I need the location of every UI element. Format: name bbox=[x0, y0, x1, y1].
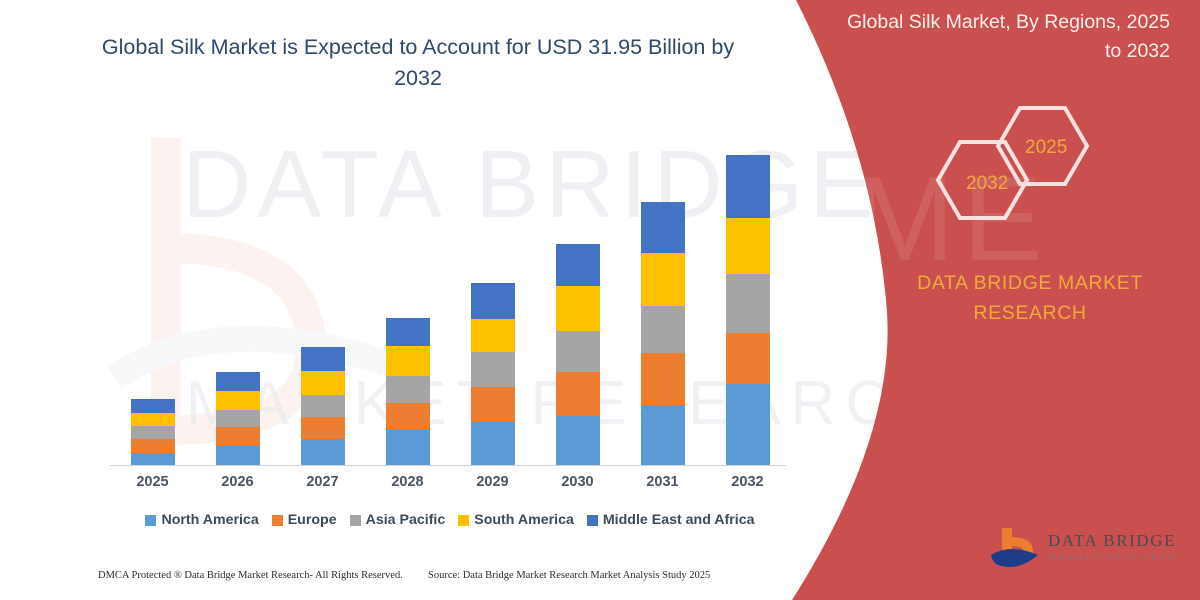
bar-segment bbox=[726, 333, 770, 384]
bar-segment bbox=[726, 274, 770, 333]
bar-segment bbox=[386, 318, 430, 347]
bar-segment bbox=[471, 319, 515, 353]
bar-segment bbox=[301, 371, 345, 395]
bar-segment bbox=[216, 391, 260, 410]
bar-2030 bbox=[556, 244, 600, 466]
bar-segment bbox=[471, 422, 515, 466]
bar-2032 bbox=[726, 155, 770, 466]
hexagon-2032-label: 2032 bbox=[966, 173, 1008, 195]
bar-segment bbox=[216, 446, 260, 466]
legend-label: Europe bbox=[288, 512, 337, 528]
x-axis-label-2025: 2025 bbox=[113, 474, 193, 490]
bar-segment bbox=[726, 384, 770, 466]
x-axis-label-2028: 2028 bbox=[368, 474, 448, 490]
bar-segment bbox=[471, 352, 515, 387]
legend-swatch-icon bbox=[272, 515, 283, 526]
x-axis-label-2032: 2032 bbox=[708, 474, 788, 490]
bar-segment bbox=[726, 218, 770, 274]
legend-label: South America bbox=[474, 512, 574, 528]
bar-segment bbox=[556, 416, 600, 466]
bar-segment bbox=[216, 427, 260, 446]
bar-segment bbox=[641, 253, 685, 306]
panel-brand-line-1: DATA BRIDGE MARKET bbox=[880, 268, 1180, 298]
bar-segment bbox=[641, 306, 685, 353]
bar-segment bbox=[131, 439, 175, 453]
dbmr-logo: DATA BRIDGE MARKET RESEARCH bbox=[988, 525, 1188, 581]
x-axis-label-2026: 2026 bbox=[198, 474, 278, 490]
bar-segment bbox=[216, 372, 260, 391]
bar-segment bbox=[301, 439, 345, 466]
legend-swatch-icon bbox=[145, 515, 156, 526]
chart-x-axis-line bbox=[110, 465, 786, 466]
bar-segment bbox=[386, 376, 430, 403]
bar-segment bbox=[301, 417, 345, 440]
bar-segment bbox=[641, 353, 685, 404]
bar-segment bbox=[386, 346, 430, 376]
chart-legend: North AmericaEuropeAsia PacificSouth Ame… bbox=[110, 512, 790, 528]
legend-item: Europe bbox=[272, 512, 337, 528]
panel-title: Global Silk Market, By Regions, 2025 to … bbox=[840, 8, 1170, 66]
bar-segment bbox=[556, 244, 600, 286]
x-axis-label-2031: 2031 bbox=[623, 474, 703, 490]
chart-x-axis-labels: 20252026202720282029203020312032 bbox=[110, 474, 790, 500]
page-title: Global Silk Market is Expected to Accoun… bbox=[98, 32, 738, 94]
bar-segment bbox=[641, 202, 685, 253]
bar-2027 bbox=[301, 347, 345, 466]
hexagon-2025-label: 2025 bbox=[1025, 137, 1067, 159]
bar-segment bbox=[641, 405, 685, 466]
hexagon-badges bbox=[925, 100, 1125, 230]
bar-2025 bbox=[131, 399, 175, 466]
bar-segment bbox=[301, 347, 345, 371]
x-axis-label-2029: 2029 bbox=[453, 474, 533, 490]
legend-item: North America bbox=[145, 512, 258, 528]
legend-label: Middle East and Africa bbox=[603, 512, 755, 528]
bar-segment bbox=[556, 372, 600, 415]
bar-segment bbox=[386, 430, 430, 466]
infographic-canvas: DATA BRIDGE MARKET RESEARCH RME Global S… bbox=[0, 0, 1200, 600]
dbmr-logo-text-sub: MARKET RESEARCH bbox=[1048, 553, 1178, 562]
x-axis-label-2027: 2027 bbox=[283, 474, 363, 490]
legend-item: South America bbox=[458, 512, 574, 528]
bar-segment bbox=[556, 286, 600, 330]
chart-plot-area bbox=[110, 140, 790, 466]
bar-2031 bbox=[641, 202, 685, 466]
panel-brand-line-2: RESEARCH bbox=[880, 298, 1180, 328]
bar-segment bbox=[131, 426, 175, 439]
footer-source: Source: Data Bridge Market Research Mark… bbox=[428, 570, 710, 581]
bar-segment bbox=[386, 403, 430, 431]
bar-segment bbox=[301, 395, 345, 417]
legend-swatch-icon bbox=[458, 515, 469, 526]
bar-2029 bbox=[471, 283, 515, 466]
bar-2026 bbox=[216, 372, 260, 466]
legend-item: Middle East and Africa bbox=[587, 512, 755, 528]
dbmr-logo-mark bbox=[988, 525, 1044, 577]
bar-2028 bbox=[386, 318, 430, 466]
bar-segment bbox=[216, 410, 260, 428]
bar-segment bbox=[131, 399, 175, 412]
legend-label: North America bbox=[161, 512, 258, 528]
bar-segment bbox=[471, 283, 515, 319]
bar-segment bbox=[131, 413, 175, 426]
panel-brand: DATA BRIDGE MARKET RESEARCH bbox=[880, 268, 1180, 328]
legend-label: Asia Pacific bbox=[366, 512, 446, 528]
legend-swatch-icon bbox=[587, 515, 598, 526]
bar-segment bbox=[726, 155, 770, 218]
dbmr-logo-text-main: DATA BRIDGE bbox=[1048, 531, 1176, 551]
footer-copyright: DMCA Protected ® Data Bridge Market Rese… bbox=[98, 570, 403, 581]
legend-swatch-icon bbox=[350, 515, 361, 526]
bar-segment bbox=[471, 387, 515, 422]
legend-item: Asia Pacific bbox=[350, 512, 446, 528]
x-axis-label-2030: 2030 bbox=[538, 474, 618, 490]
bar-segment bbox=[556, 331, 600, 372]
